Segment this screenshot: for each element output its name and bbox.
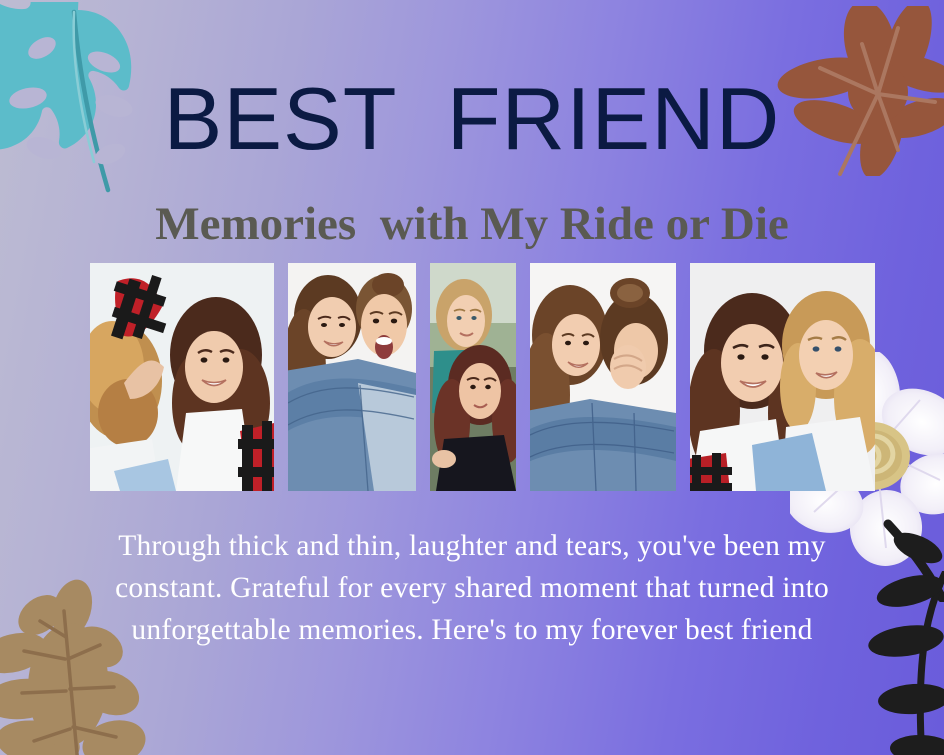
- poster-canvas: BEST FRIEND Memories with My Ride or Die: [0, 0, 944, 755]
- photo-two-friends-outdoors-portrait: [430, 263, 516, 491]
- photo-two-friends-plaid-lying-down: [90, 263, 274, 491]
- page-subtitle: Memories with My Ride or Die: [0, 199, 944, 251]
- body-paragraph: Through thick and thin, laughter and tea…: [80, 525, 864, 651]
- photo-strip: [90, 263, 855, 491]
- page-title: BEST FRIEND: [0, 75, 944, 163]
- photo-two-friends-selfie-smiling: [690, 263, 875, 491]
- photo-two-friends-denim-hug: [288, 263, 416, 491]
- photo-two-friends-denim-laughing: [530, 263, 676, 491]
